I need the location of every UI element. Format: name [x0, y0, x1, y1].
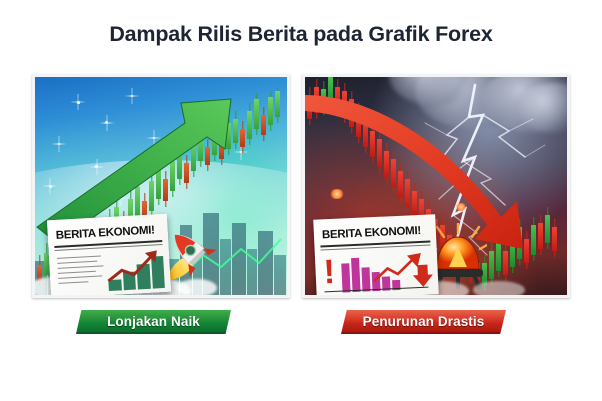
news-up-arrow-icon	[105, 248, 167, 285]
caption-banner-bearish[interactable]: Penurunan Drastis	[341, 310, 506, 334]
rocket-icon	[163, 223, 225, 285]
caption-label: Penurunan Drastis	[363, 314, 485, 329]
caption-banner-bullish[interactable]: Lonjakan Naik	[76, 310, 231, 334]
news-text-line	[57, 261, 97, 265]
infographic-canvas: Dampak Rilis Berita pada Grafik Forex	[0, 0, 602, 401]
news-text-line	[58, 281, 88, 284]
news-headline: BERITA EKONOMI!	[322, 225, 421, 241]
news-card-bullish[interactable]: BERITA EKONOMI!	[47, 214, 171, 295]
news-card-bearish[interactable]: BERITA EKONOMI! !	[313, 214, 439, 295]
mini-bar	[341, 263, 350, 292]
page-title: Dampak Rilis Berita pada Grafik Forex	[0, 22, 602, 47]
scene-bullish: BERITA EKONOMI!	[35, 77, 287, 295]
news-text-line	[57, 255, 101, 259]
news-text-line	[58, 265, 104, 269]
caption-label: Lonjakan Naik	[107, 314, 200, 329]
news-text-line	[58, 275, 102, 279]
panel-bullish[interactable]: BERITA EKONOMI!	[32, 74, 290, 298]
mini-bar	[351, 258, 361, 292]
news-text-line	[58, 271, 96, 274]
panel-bearish[interactable]: BERITA EKONOMI! !	[302, 74, 570, 298]
scene-bearish: BERITA EKONOMI! !	[305, 77, 567, 295]
cloud-puff	[473, 281, 525, 295]
alert-exclamation: !	[323, 255, 336, 289]
news-headline: BERITA EKONOMI!	[55, 224, 155, 242]
